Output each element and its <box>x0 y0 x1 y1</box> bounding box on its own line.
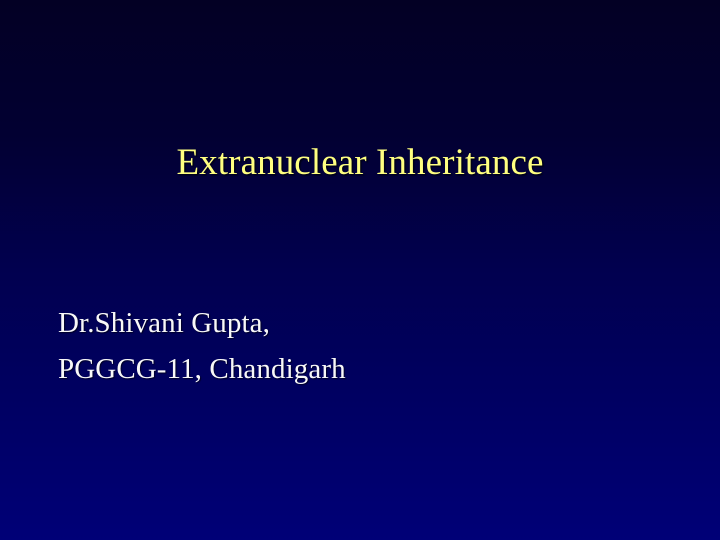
subtitle-line-affiliation: PGGCG-11, Chandigarh <box>58 346 658 392</box>
subtitle-line-author: Dr.Shivani Gupta, <box>58 300 658 346</box>
presentation-slide: Extranuclear Inheritance Dr.Shivani Gupt… <box>0 0 720 540</box>
slide-title: Extranuclear Inheritance <box>176 142 543 185</box>
subtitle-block: Dr.Shivani Gupta, PGGCG-11, Chandigarh <box>58 300 658 392</box>
title-block: Extranuclear Inheritance <box>0 142 720 185</box>
